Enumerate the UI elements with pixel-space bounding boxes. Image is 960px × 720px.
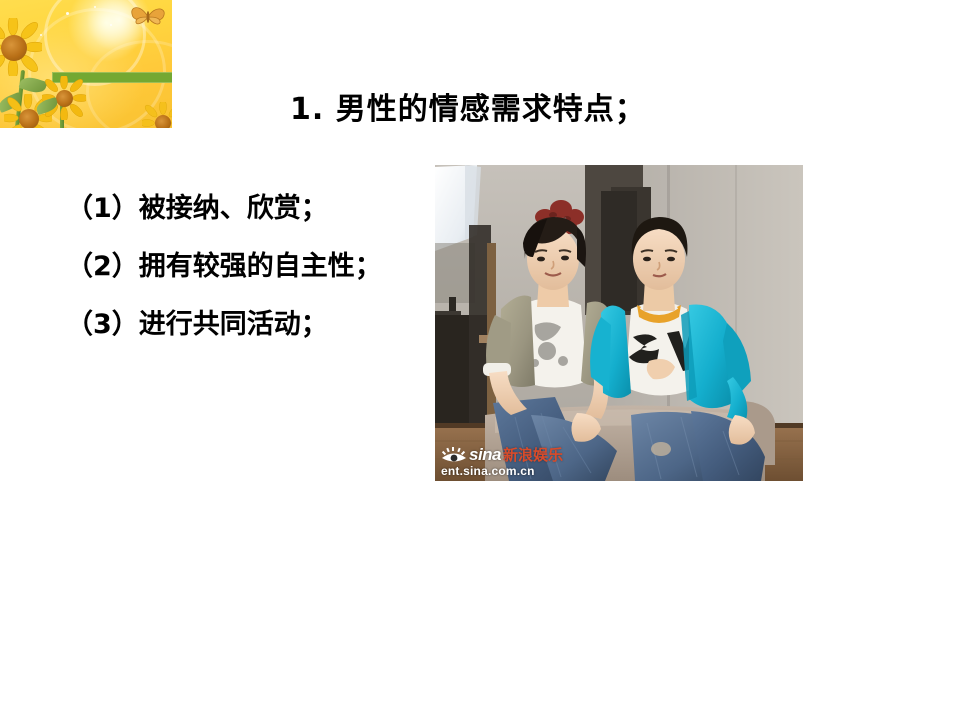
sunflower-icon	[142, 102, 172, 128]
bullet-list: （1）被接纳、欣赏； （2）拥有较强的自主性； （3）进行共同活动；	[66, 180, 446, 354]
photo-two-men-on-sofa: sina 新浪娱乐 ent.sina.com.cn	[435, 165, 803, 481]
photo-illustration	[435, 165, 803, 481]
sunflower-decorative-banner	[0, 0, 172, 128]
bullet-item-3: （3）进行共同活动；	[66, 296, 446, 354]
bullet-item-2: （2）拥有较强的自主性；	[66, 238, 446, 296]
banner-sparkle-icon	[66, 12, 69, 15]
slide-title: 1. 男性的情感需求特点；	[290, 84, 646, 128]
butterfly-icon	[128, 2, 168, 32]
slide-canvas: 1. 男性的情感需求特点； （1）被接纳、欣赏； （2）拥有较强的自主性； （3…	[0, 0, 960, 720]
banner-sparkle-icon	[94, 6, 96, 8]
sunflower-icon	[0, 18, 42, 76]
bullet-item-1: （1）被接纳、欣赏；	[66, 180, 446, 238]
banner-sparkle-icon	[110, 24, 112, 26]
